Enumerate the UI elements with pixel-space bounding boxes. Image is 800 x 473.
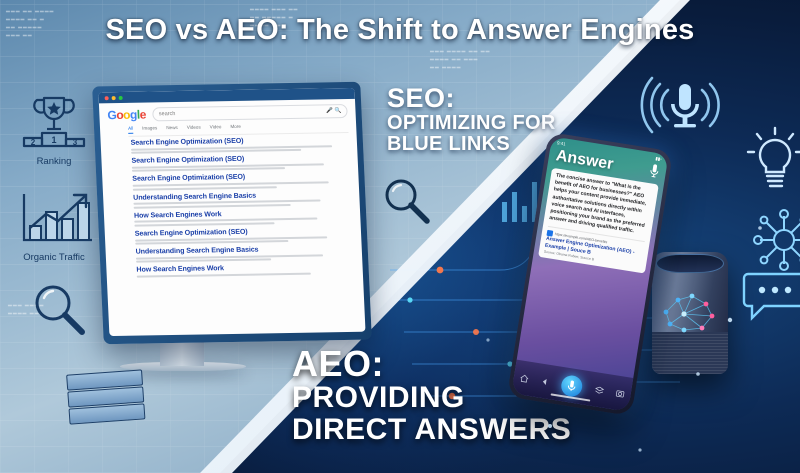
search-input-value: search	[159, 111, 176, 117]
search-result-item[interactable]: Understanding Search Engine Basics	[133, 189, 352, 208]
result-title[interactable]: How Search Engines Work	[134, 208, 352, 220]
search-result-item[interactable]: How Search Engines Work	[134, 208, 353, 227]
ranking-icon-group: 1 2 3 Ranking	[18, 92, 90, 167]
ranking-label: Ranking	[18, 156, 90, 167]
search-result-item[interactable]: Understanding Search Engine Basics	[135, 244, 354, 263]
search-result-item[interactable]: Search Engine Optimization (SEO)	[131, 153, 350, 172]
glow-particles	[430, 40, 800, 470]
search-result-item[interactable]: How Search Engines Work	[136, 262, 355, 277]
trophy-podium-icon: 1 2 3	[18, 92, 90, 154]
organic-traffic-icon-group: Organic Traffic	[8, 188, 100, 263]
svg-text:3: 3	[73, 138, 78, 147]
bar-chart-growth-icon	[8, 188, 100, 250]
svg-text:2: 2	[31, 138, 36, 147]
window-close-dot[interactable]	[105, 96, 109, 100]
tab-news[interactable]: News	[166, 125, 178, 133]
desktop-monitor: Google search 🎤 🔍 All Images News Videos…	[92, 82, 372, 344]
search-input[interactable]: search 🎤 🔍	[153, 104, 348, 121]
organic-traffic-label: Organic Traffic	[8, 252, 100, 263]
magnifier-icon	[28, 278, 90, 340]
seo-magnifier-icon	[378, 172, 434, 228]
infographic-canvas: ▂▂▂ ▂▂ ▂▂▂▂▂▂▂▂ ▂▂ ▂▂▂ ▂▂▂▂▂▂▂▂ ▂▂ ▂▂▂▂ …	[0, 0, 800, 473]
tab-images[interactable]: Images	[142, 125, 157, 133]
search-result-item[interactable]: Search Engine Optimization (SEO)	[131, 135, 350, 154]
tab-videos[interactable]: Videos	[187, 125, 201, 133]
books-stack-icon	[66, 369, 146, 430]
search-result-item[interactable]: Search Engine Optimization (SEO)	[132, 171, 351, 190]
tab-more[interactable]: More	[230, 124, 241, 132]
google-logo: Google	[107, 108, 146, 123]
svg-text:1: 1	[51, 135, 56, 145]
window-maximize-dot[interactable]	[119, 95, 123, 99]
result-title[interactable]: How Search Engines Work	[136, 262, 354, 274]
window-minimize-dot[interactable]	[112, 96, 116, 100]
search-result-item[interactable]: Search Engine Optimization (SEO)	[135, 226, 354, 245]
tab-all[interactable]: All	[128, 126, 133, 134]
results-list: Search Engine Optimization (SEO) Search …	[109, 135, 355, 278]
search-results-page: Google search 🎤 🔍 All Images News Videos…	[99, 99, 363, 278]
monitor-screen: Google search 🎤 🔍 All Images News Videos…	[98, 88, 365, 336]
tab-video[interactable]: Video	[210, 124, 222, 132]
search-bar-icons[interactable]: 🎤 🔍	[326, 108, 342, 114]
serp-header: Google search 🎤 🔍	[107, 104, 348, 122]
